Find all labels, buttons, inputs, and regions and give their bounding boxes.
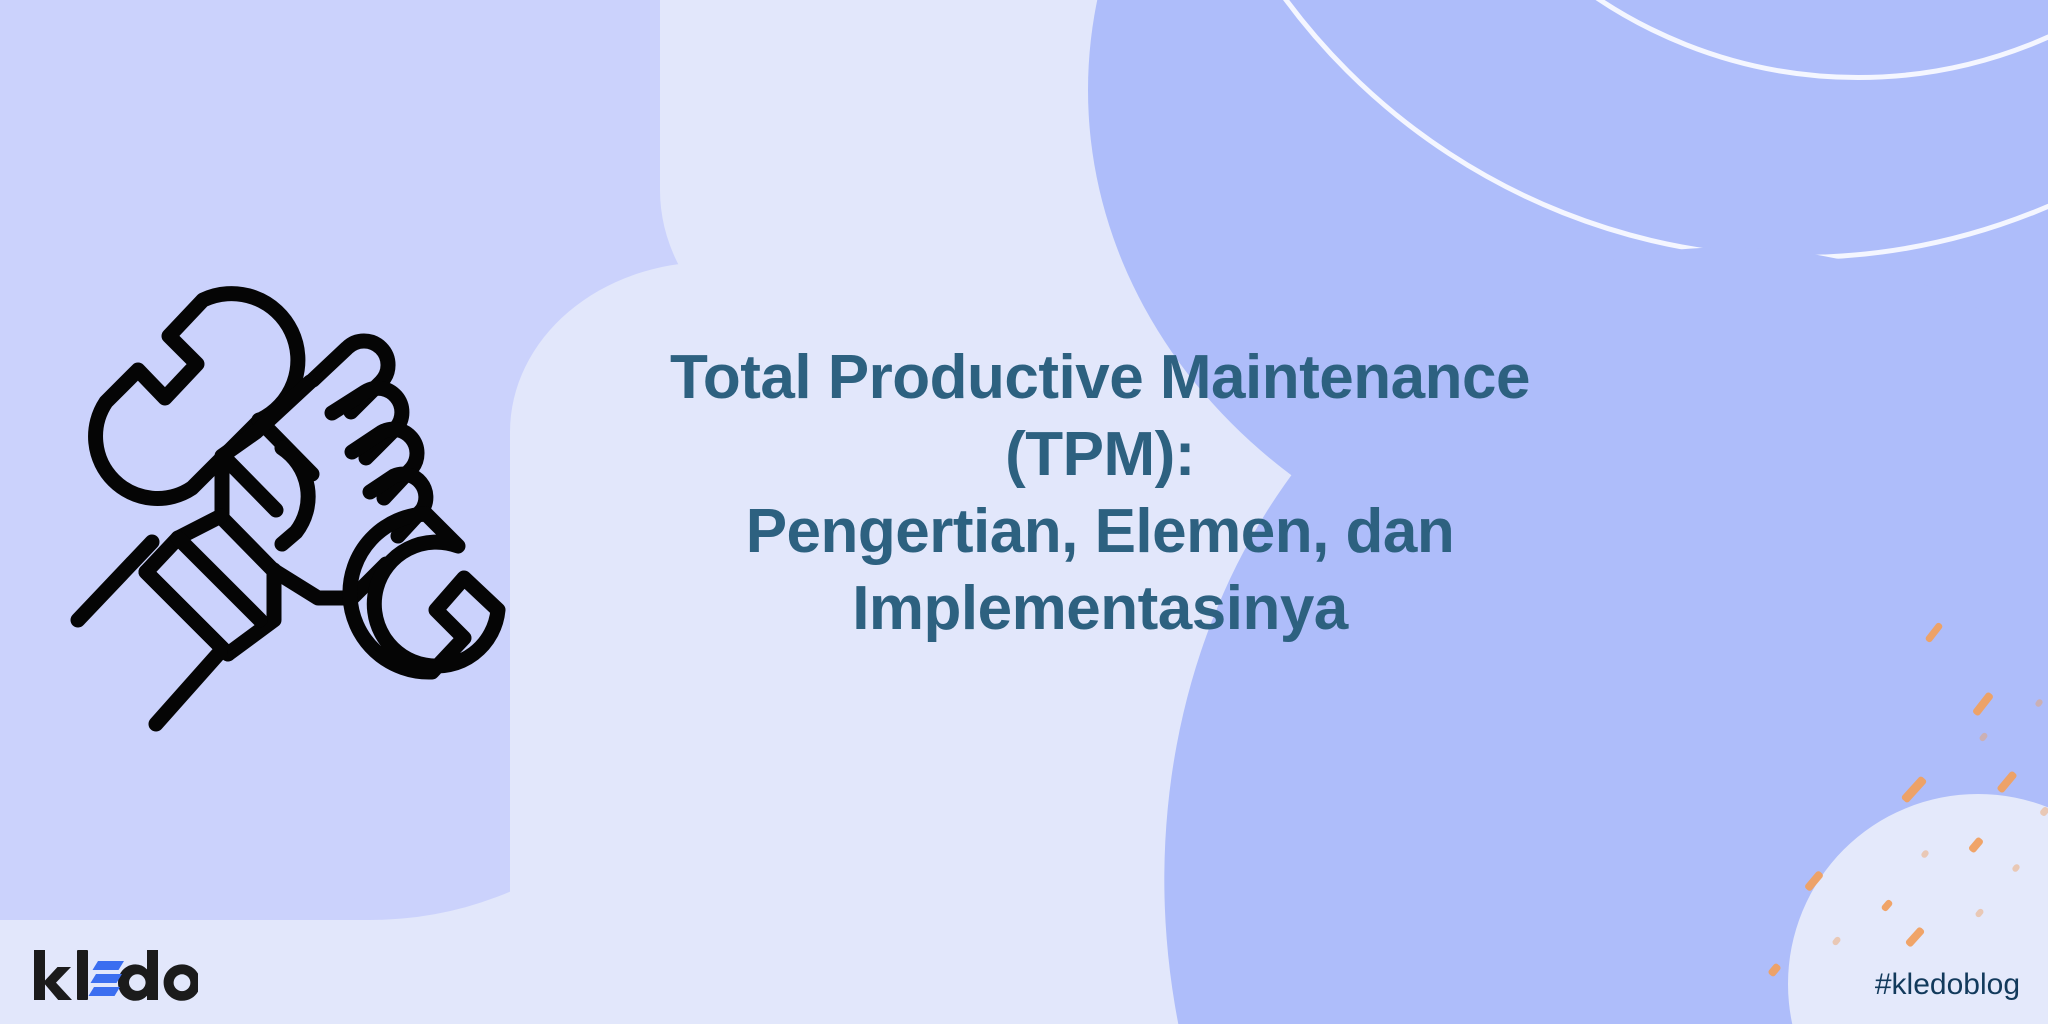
confetti-dash (1767, 962, 1781, 977)
kledo-logo (30, 948, 198, 1002)
confetti-dash (1972, 691, 1994, 716)
confetti-dash (1901, 775, 1928, 803)
decorative-ring-middle (1388, 0, 2048, 80)
hashtag-label: #kledoblog (1875, 968, 2020, 1002)
wrist-cuff (146, 516, 274, 654)
confetti-dash (1920, 849, 1930, 859)
confetti-dash (1968, 836, 1984, 853)
background-pale-notch-top (660, 0, 1560, 380)
hand-holding-wrench-illustration (60, 280, 540, 760)
confetti-dash (1905, 926, 1926, 948)
title-block: Total Productive Maintenance (TPM): Peng… (600, 340, 1600, 648)
decorative-ring-outer (1158, 0, 2048, 260)
confetti-dash (2034, 698, 2044, 708)
confetti-dash (1974, 908, 1984, 919)
page-title: Total Productive Maintenance (TPM): Peng… (600, 340, 1600, 648)
kledo-wordmark-svg (30, 948, 198, 1002)
confetti-dash (2039, 806, 2048, 817)
cover-canvas: Total Productive Maintenance (TPM): Peng… (0, 0, 2048, 1024)
headline-line-2: Pengertian, Elemen, dan (746, 497, 1455, 566)
headline-line-3: Implementasinya (852, 574, 1348, 643)
confetti-dash (1924, 622, 1943, 644)
wrench-upper-jaw (96, 294, 298, 499)
kledo-e-bars (89, 961, 125, 996)
confetti-dash (2011, 863, 2021, 873)
headline-line-1: Total Productive Maintenance (TPM): (670, 343, 1530, 489)
confetti-dash (1978, 732, 1988, 743)
confetti-dash (1880, 899, 1893, 913)
confetti-dash (1996, 770, 2018, 794)
confetti-dash (1804, 870, 1824, 892)
wrench-lower-jaw (350, 514, 498, 672)
confetti-dash (1831, 936, 1841, 947)
